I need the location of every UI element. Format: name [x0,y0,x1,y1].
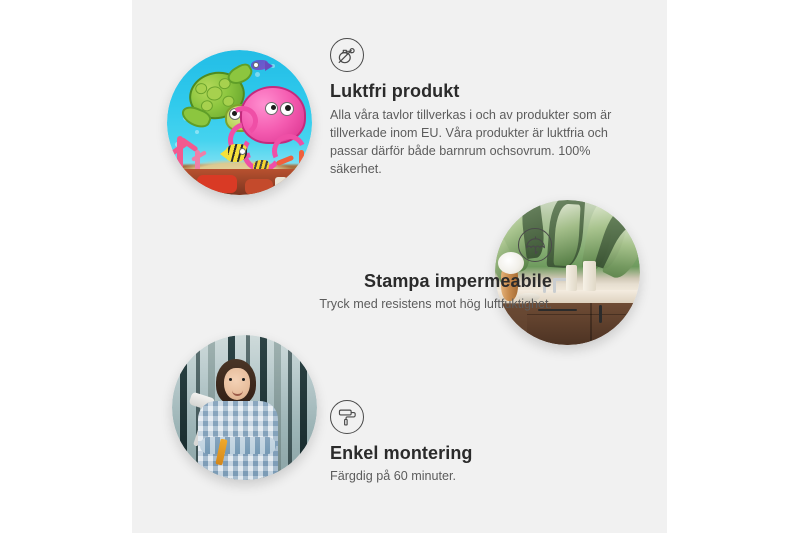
feature-odour-free: Luktfri produkt Alla våra tavlor tillver… [330,38,620,178]
feature-easy-mounting: Enkel montering Färgdig på 60 minuter. [330,400,610,485]
woman-eye [242,378,245,381]
woman-eye [229,378,232,381]
vanity-seam [527,314,640,316]
feature-icon-row [212,228,552,262]
photo-underwater-kids-mural [167,50,312,195]
photo-underwater-inner [167,50,312,195]
vanity-seam [590,303,592,345]
forest-trunk [180,335,187,480]
umbrella-icon [518,228,552,262]
no-fragrance-bottle-icon [330,38,364,72]
feature-title: Luktfri produkt [330,81,620,102]
paint-roller-icon [330,400,364,434]
no-fragrance-bottle-glyph [335,43,359,67]
forest-trunk [288,335,292,480]
forest-trunk [300,335,307,480]
feature-body: Alla våra tavlor tillverkas i och av pro… [330,106,620,178]
feature-title: Enkel montering [330,443,610,464]
feature-body: Färgdig på 60 minuter. [330,467,610,485]
photo-woman-painter-forest [172,335,317,480]
octopus-pupil [271,105,276,110]
faucet-spout [553,280,556,293]
content-panel: Luktfri produkt Alla våra tavlor tillver… [132,0,667,533]
feature-waterproof-print: Stampa impermeabile Tryck med resistens … [212,228,552,313]
reef-rock [197,175,237,193]
feature-body: Tryck med resistens mot hög luftfuktighe… [212,295,552,313]
bubble [255,72,260,77]
reef-rock [245,179,273,195]
door-handle [599,305,602,323]
fish-eye [239,148,246,155]
paint-roller-glyph [336,406,359,429]
fish-eye [253,62,259,68]
feature-title: Stampa impermeabile [212,271,552,292]
photo-painter-inner [172,335,317,480]
coral-branch [299,150,304,170]
toiletry-bottle [566,265,577,291]
umbrella-glyph [524,234,547,257]
octopus-pupil [285,105,291,111]
bubble [195,130,199,134]
fish-yellow-tail [220,148,228,160]
woman-crossed-arms [200,437,276,454]
reef-shell [275,177,287,191]
reef-floor [167,169,312,195]
toiletry-bottle [583,261,596,291]
fish-purple-tail [265,61,273,71]
screenshot-root: Luktfri produkt Alla våra tavlor tillver… [0,0,800,533]
